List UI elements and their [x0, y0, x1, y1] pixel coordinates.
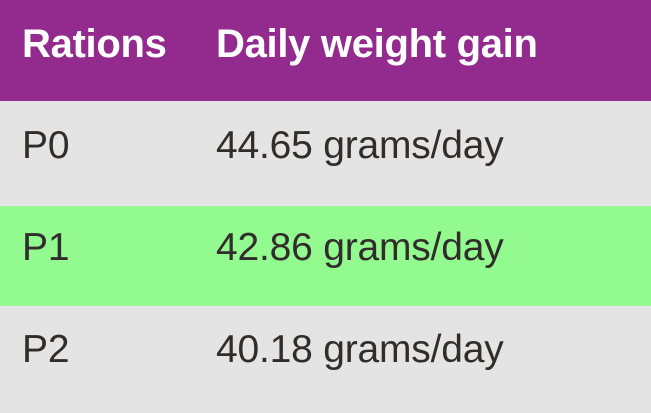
table-row-highlighted: P1 42.86 grams/day	[0, 206, 651, 306]
cell-daily-weight-gain: 40.18 grams/day	[216, 327, 651, 373]
table-header-row: Rations Daily weight gain	[0, 0, 651, 101]
table-row: P0 44.65 grams/day	[0, 101, 651, 206]
column-header-daily-weight-gain: Daily weight gain	[216, 20, 651, 68]
rations-table: Rations Daily weight gain P0 44.65 grams…	[0, 0, 651, 413]
cell-daily-weight-gain: 42.86 grams/day	[216, 225, 651, 271]
cell-rations: P2	[0, 327, 216, 373]
cell-rations: P1	[0, 225, 216, 271]
column-header-rations: Rations	[0, 20, 216, 68]
cell-rations: P0	[0, 123, 216, 169]
cell-daily-weight-gain: 44.65 grams/day	[216, 123, 651, 169]
table-row: P2 40.18 grams/day	[0, 306, 651, 413]
